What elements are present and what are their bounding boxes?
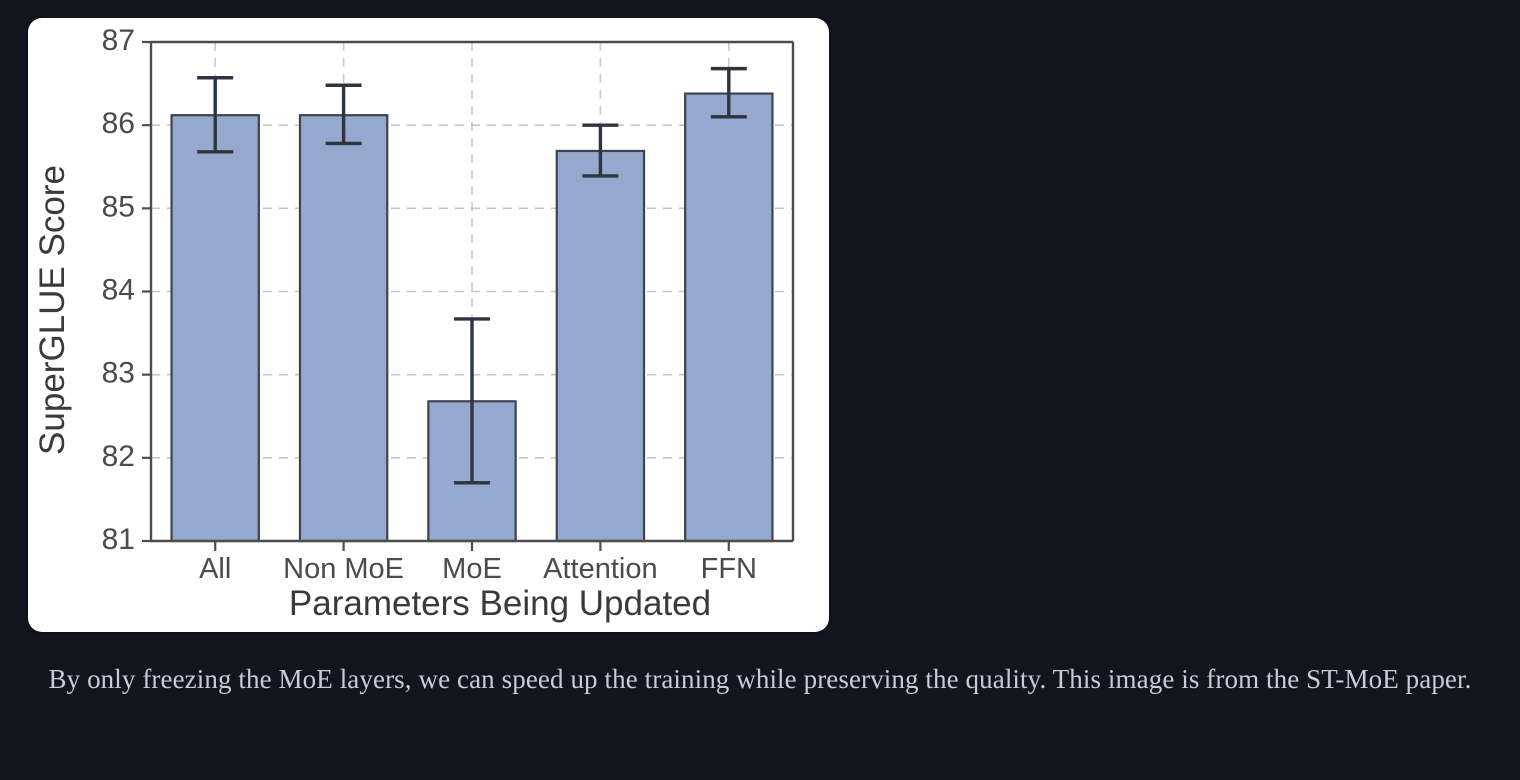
- figure-card: 81828384858687 AllNon MoEMoEAttentionFFN…: [28, 18, 829, 632]
- y-axis-title: SuperGLUE Score: [33, 165, 72, 455]
- y-tick-label: 87: [102, 24, 135, 57]
- bar-non-moe: [300, 115, 387, 541]
- y-tick-label: 83: [102, 357, 135, 390]
- x-tick-label: All: [199, 553, 231, 585]
- x-axis-title: Parameters Being Updated: [289, 584, 711, 623]
- bar-all: [172, 115, 259, 541]
- superglue-bar-chart: 81828384858687 AllNon MoEMoEAttentionFFN…: [28, 18, 829, 632]
- x-tick-label: Attention: [543, 553, 657, 585]
- y-tick-label: 85: [102, 190, 135, 223]
- y-tick-label: 86: [102, 107, 135, 140]
- chart-y-tick-labels: 81828384858687: [102, 24, 135, 556]
- y-tick-label: 84: [102, 273, 135, 306]
- y-tick-label: 82: [102, 440, 135, 473]
- bar-ffn: [685, 94, 772, 541]
- y-tick-label: 81: [102, 523, 135, 556]
- x-tick-label: FFN: [701, 553, 757, 585]
- chart-x-tick-labels: AllNon MoEMoEAttentionFFN: [199, 553, 757, 585]
- x-tick-label: MoE: [442, 553, 502, 585]
- figure-caption: By only freezing the MoE layers, we can …: [20, 658, 1500, 700]
- bar-attention: [557, 151, 644, 541]
- x-tick-label: Non MoE: [283, 553, 404, 585]
